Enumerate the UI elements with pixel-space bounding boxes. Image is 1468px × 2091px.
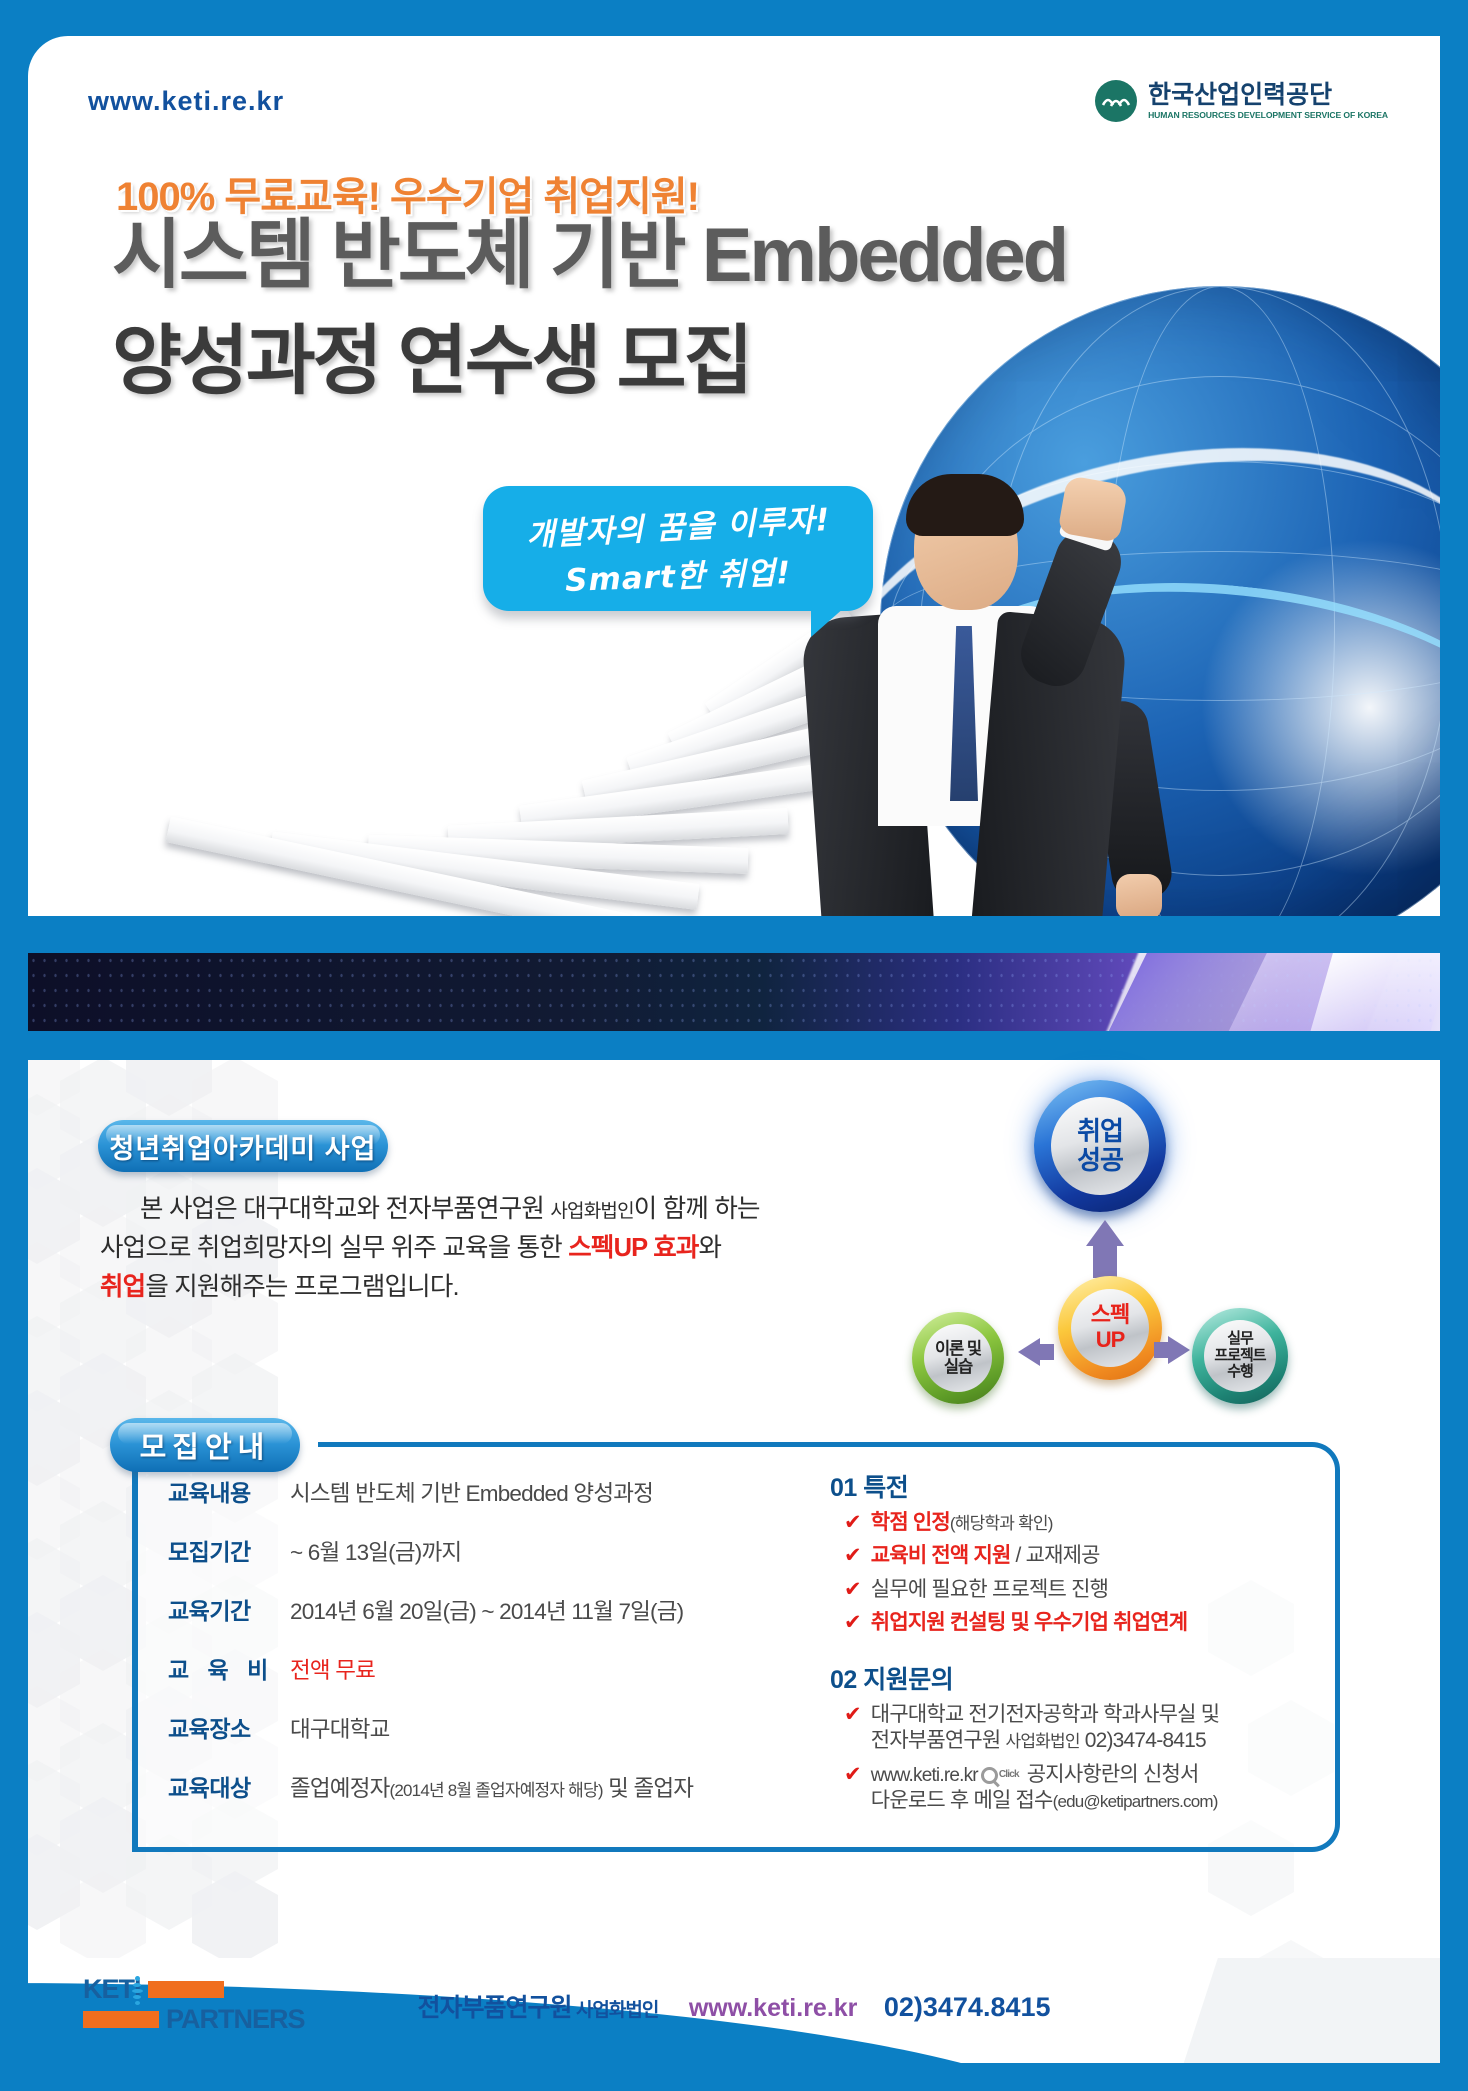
intro-l2a: 사업으로 취업희망자의 실무 위주 교육을 통한 <box>100 1234 568 1262</box>
row-value-main: 졸업예정자 <box>290 1776 390 1801</box>
inquiry-list: ✔ 대구대학교 전기전자공학과 학과사무실 및 전자부품연구원 사업화법인 02… <box>830 1702 1310 1814</box>
benefits-heading: 01 특전 <box>830 1468 1310 1504</box>
orb-theory-line1: 이론 및 <box>935 1340 981 1358</box>
orb-spec-up: 스펙 UP <box>1058 1276 1162 1380</box>
poster-root: www.keti.re.kr 한국산업인력공단 HUMAN RESOURCES … <box>0 0 1468 2091</box>
hrdk-logo-korean: 한국산업인력공단 <box>1148 83 1388 108</box>
orb-success-line1: 취업 <box>1077 1117 1123 1146</box>
benefit-text: 학점 인정(해당학과 확인) <box>871 1510 1053 1536</box>
orb-theory-line2: 실습 <box>944 1358 972 1376</box>
benefit-red: 학점 인정 <box>871 1511 950 1534</box>
intro-l2-red: 스펙UP 효과 <box>568 1234 698 1262</box>
arrow-left-stem <box>1038 1344 1054 1360</box>
arrow-up-icon <box>1086 1220 1124 1246</box>
footer-org-small: 사업화법인 <box>576 2000 658 2021</box>
inquiry-text-1: 대구대학교 전기전자공학과 학과사무실 및 전자부품연구원 사업화법인 02)3… <box>871 1702 1219 1755</box>
inquiry-l1-tail: 공지사항란의 신청서 <box>1022 1763 1199 1786</box>
row-value-note: (2014년 8월 졸업자예정자 해당) <box>390 1781 603 1800</box>
arrow-right-stem <box>1154 1342 1170 1358</box>
list-item: ✔ 취업지원 컨설팅 및 우수기업 취업연계 <box>844 1610 1310 1636</box>
check-icon: ✔ <box>844 1543 861 1569</box>
click-label: Click <box>999 1769 1019 1782</box>
process-diagram: 취업 성공 스펙 UP 이론 및 실습 실무 프로젝트 수행 <box>900 1080 1300 1420</box>
row-key: 교육기간 <box>168 1592 290 1626</box>
row-key: 모집기간 <box>168 1533 290 1567</box>
row-value: ~ 6월 13일(금)까지 <box>290 1535 461 1567</box>
inquiry-url[interactable]: www.keti.re.kr <box>871 1765 978 1786</box>
click-magnifier-icon: Click <box>981 1767 1019 1784</box>
list-item: ✔ 대구대학교 전기전자공학과 학과사무실 및 전자부품연구원 사업화법인 02… <box>844 1702 1310 1755</box>
check-icon: ✔ <box>844 1610 861 1636</box>
bubble-tail <box>811 607 845 637</box>
inquiry-l2a: 전자부품연구원 <box>871 1729 1006 1752</box>
arrow-up-stem <box>1093 1244 1117 1278</box>
table-row: 교육대상 졸업예정자(2014년 8월 졸업자예정자 해당) 및 졸업자 <box>168 1769 788 1803</box>
row-value: 2014년 6월 20일(금) ~ 2014년 11월 7일(금) <box>290 1594 683 1626</box>
inquiry-l2: 다운로드 후 메일 접수 <box>871 1789 1053 1812</box>
footer: KETI PARTNERS 전자부품연구원 사업화법인 www.keti.re.… <box>28 1958 1440 2063</box>
intro-l1a: 본 사업은 대구대학교와 전자부품연구원 <box>140 1195 550 1223</box>
arrow-right-icon <box>1168 1336 1190 1364</box>
table-row: 교육기간 2014년 6월 20일(금) ~ 2014년 11월 7일(금) <box>168 1592 788 1626</box>
decorative-band <box>28 953 1440 1031</box>
benefits-list: ✔ 학점 인정(해당학과 확인) ✔ 교육비 전액 지원 / 교재제공 ✔ 실무… <box>830 1510 1310 1636</box>
footer-phone: 02)3474.8415 <box>884 1992 1051 2022</box>
check-icon: ✔ <box>844 1762 861 1815</box>
list-item: ✔ 실무에 필요한 프로젝트 진행 <box>844 1577 1310 1603</box>
bubble-line2: Smart한 취업! <box>564 547 792 600</box>
footer-url[interactable]: www.keti.re.kr <box>689 1994 858 2022</box>
right-column: 01 특전 ✔ 학점 인정(해당학과 확인) ✔ 교육비 전액 지원 / 교재제… <box>830 1468 1310 1821</box>
row-key: 교육내용 <box>168 1474 290 1508</box>
list-item: ✔ www.keti.re.krClick 공지사항란의 신청서 다운로드 후 … <box>844 1762 1310 1815</box>
inquiry-text-2: www.keti.re.krClick 공지사항란의 신청서 다운로드 후 메일… <box>871 1762 1218 1815</box>
row-value: 졸업예정자(2014년 8월 졸업자예정자 해당) 및 졸업자 <box>290 1771 693 1803</box>
row-value: 전액 무료 <box>290 1653 375 1685</box>
inquiry-email[interactable]: (edu@ketipartners.com) <box>1053 1792 1218 1811</box>
hrdk-logo: 한국산업인력공단 HUMAN RESOURCES DEVELOPMENT SER… <box>1095 80 1388 122</box>
intro-l1-small: 사업화법인 <box>550 1201 633 1222</box>
inquiry-l2-small: 사업화법인 <box>1005 1732 1079 1751</box>
inquiry-l1: 대구대학교 전기전자공학과 학과사무실 및 <box>871 1703 1219 1726</box>
orb-project-line3: 수행 <box>1227 1364 1253 1381</box>
intro-l3b: 을 지원해주는 프로그램입니다. <box>145 1273 458 1301</box>
hrdk-mark-icon <box>1095 80 1137 122</box>
orb-job-success: 취업 성공 <box>1034 1080 1166 1212</box>
inquiry-phone: 02)3474-8415 <box>1080 1729 1206 1752</box>
academy-pill-label: 청년취업아카데미 사업 <box>98 1120 388 1172</box>
hrdk-logo-english: HUMAN RESOURCES DEVELOPMENT SERVICE OF K… <box>1148 111 1388 120</box>
check-icon: ✔ <box>844 1702 861 1755</box>
table-row: 교육내용 시스템 반도체 기반 Embedded 양성과정 <box>168 1474 788 1508</box>
bubble-line1: 개발자의 꿈을 이루자! <box>525 494 831 555</box>
footer-contact: 전자부품연구원 사업화법인 www.keti.re.kr 02)3474.841… <box>28 1988 1440 2024</box>
inquiry-heading: 02 지원문의 <box>830 1660 1310 1696</box>
row-value-tail: 및 졸업자 <box>603 1776 694 1801</box>
list-item: ✔ 학점 인정(해당학과 확인) <box>844 1510 1310 1536</box>
academy-intro-text: 본 사업은 대구대학교와 전자부품연구원 사업화법인이 함께 하는 사업으로 취… <box>100 1190 860 1306</box>
orb-spec-line1: 스펙 <box>1091 1303 1129 1328</box>
footer-org: 전자부품연구원 <box>417 1994 571 2022</box>
benefit-red: 취업지원 컨설팅 및 우수기업 취업연계 <box>871 1611 1187 1634</box>
row-value: 대구대학교 <box>290 1712 390 1744</box>
recruitment-table: 교육내용 시스템 반도체 기반 Embedded 양성과정 모집기간 ~ 6월 … <box>168 1474 788 1828</box>
benefit-red: 교육비 전액 지원 <box>871 1544 1011 1567</box>
row-key: 교육대상 <box>168 1769 290 1803</box>
notice-pill-label: 모집안내 <box>110 1418 300 1472</box>
benefit-note: (해당학과 확인) <box>950 1514 1053 1533</box>
orb-project-line1: 실무 <box>1227 1331 1253 1348</box>
site-url-top[interactable]: www.keti.re.kr <box>88 86 284 117</box>
poster-title-line1: 시스템 반도체 기반 Embedded <box>112 218 1066 294</box>
hero-section: www.keti.re.kr 한국산업인력공단 HUMAN RESOURCES … <box>28 36 1440 916</box>
orb-field-project: 실무 프로젝트 수행 <box>1192 1308 1288 1404</box>
list-item: ✔ 교육비 전액 지원 / 교재제공 <box>844 1543 1310 1569</box>
orb-success-line2: 성공 <box>1077 1146 1123 1175</box>
benefit-text: 교육비 전액 지원 / 교재제공 <box>871 1543 1100 1569</box>
benefit-text: 취업지원 컨설팅 및 우수기업 취업연계 <box>871 1610 1187 1636</box>
benefit-plain: 실무에 필요한 프로젝트 진행 <box>871 1578 1108 1601</box>
orb-theory-practice: 이론 및 실습 <box>912 1312 1004 1404</box>
orb-project-line2: 프로젝트 <box>1214 1348 1265 1365</box>
benefit-text: 실무에 필요한 프로젝트 진행 <box>871 1577 1108 1603</box>
table-row: 모집기간 ~ 6월 13일(금)까지 <box>168 1533 788 1567</box>
speech-bubble: 개발자의 꿈을 이루자! Smart한 취업! <box>483 486 873 611</box>
poster-title-line2: 양성과정 연수생 모집 <box>112 324 751 400</box>
row-key: 교육장소 <box>168 1710 290 1744</box>
intro-l1b: 이 함께 하는 <box>634 1195 760 1223</box>
row-key: 교 육 비 <box>168 1651 290 1685</box>
check-icon: ✔ <box>844 1510 861 1536</box>
inquiry-section: 02 지원문의 ✔ 대구대학교 전기전자공학과 학과사무실 및 전자부품연구원 … <box>830 1660 1310 1814</box>
orb-spec-line2: UP <box>1096 1328 1125 1353</box>
intro-l2b: 와 <box>699 1234 722 1262</box>
intro-l3-red: 취업 <box>100 1273 145 1301</box>
table-row: 교육장소 대구대학교 <box>168 1710 788 1744</box>
row-value: 시스템 반도체 기반 Embedded 양성과정 <box>290 1476 653 1508</box>
check-icon: ✔ <box>844 1577 861 1603</box>
table-row: 교 육 비 전액 무료 <box>168 1651 788 1685</box>
benefit-plain: / 교재제공 <box>1011 1544 1100 1567</box>
arrow-left-icon <box>1018 1338 1040 1366</box>
